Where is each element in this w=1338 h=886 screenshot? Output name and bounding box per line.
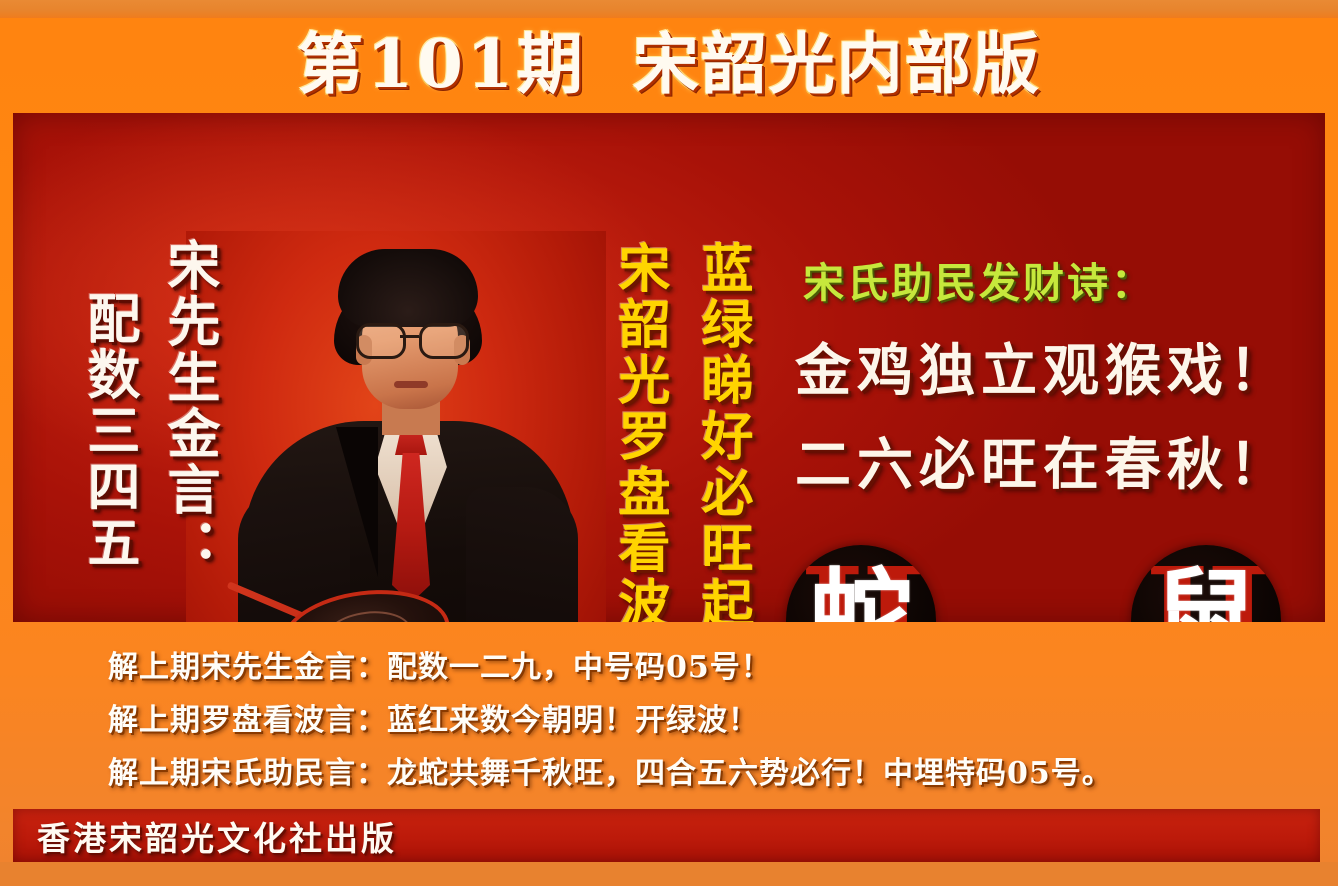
- master-words-title: 宋先生金言：: [163, 238, 216, 574]
- top-accent-strip: [0, 0, 1338, 18]
- master-portrait-photo: [186, 231, 606, 622]
- zodiac-medallion-snake: II 蛇: [786, 545, 936, 622]
- previous-result-line: 解上期罗盘看波言：蓝红来数今朝明！开绿波！: [108, 695, 759, 739]
- master-words-value: 配数三四五: [83, 291, 136, 571]
- previous-result-line: 解上期宋氏助民言：龙蛇共舞千秋旺，四合五六势必行！中埋特码05号。: [108, 748, 1113, 792]
- publisher-label: 香港宋韶光文化社出版: [37, 812, 397, 860]
- portrait-lapel: [336, 427, 378, 577]
- main-red-panel: 宋先生金言： 配数三四五 宋韶光罗盘看波诗： 蓝绿睇好必旺起 宋氏助民发财诗： …: [13, 113, 1325, 622]
- bottom-accent-strip: [0, 862, 1338, 886]
- publisher-footer-bar: 香港宋韶光文化社出版: [13, 809, 1320, 862]
- previous-result-line: 解上期宋先生金言：配数一二九，中号码05号！: [108, 642, 772, 686]
- portrait-mouth: [394, 381, 428, 388]
- portrait-right-arm: [466, 487, 578, 622]
- zodiac-character-rat: 鼠: [1131, 566, 1281, 622]
- zodiac-medallion-rat: II 鼠: [1131, 545, 1281, 622]
- portrait-hair-top: [338, 249, 478, 327]
- wealth-poem-title: 宋氏助民发财诗：: [803, 249, 1155, 309]
- wealth-poem-line-2: 二六必旺在春秋！: [795, 420, 1291, 501]
- compass-poem-title: 宋韶光罗盘看波诗：: [613, 241, 665, 622]
- zodiac-character-snake: 蛇: [786, 566, 936, 622]
- compass-poem-line: 蓝绿睇好必旺起: [696, 241, 748, 622]
- glasses-icon: [356, 323, 466, 353]
- wealth-poem-line-1: 金鸡独立观猴戏！: [795, 326, 1291, 407]
- poster-root: 第101期 宋韶光内部版: [0, 0, 1338, 886]
